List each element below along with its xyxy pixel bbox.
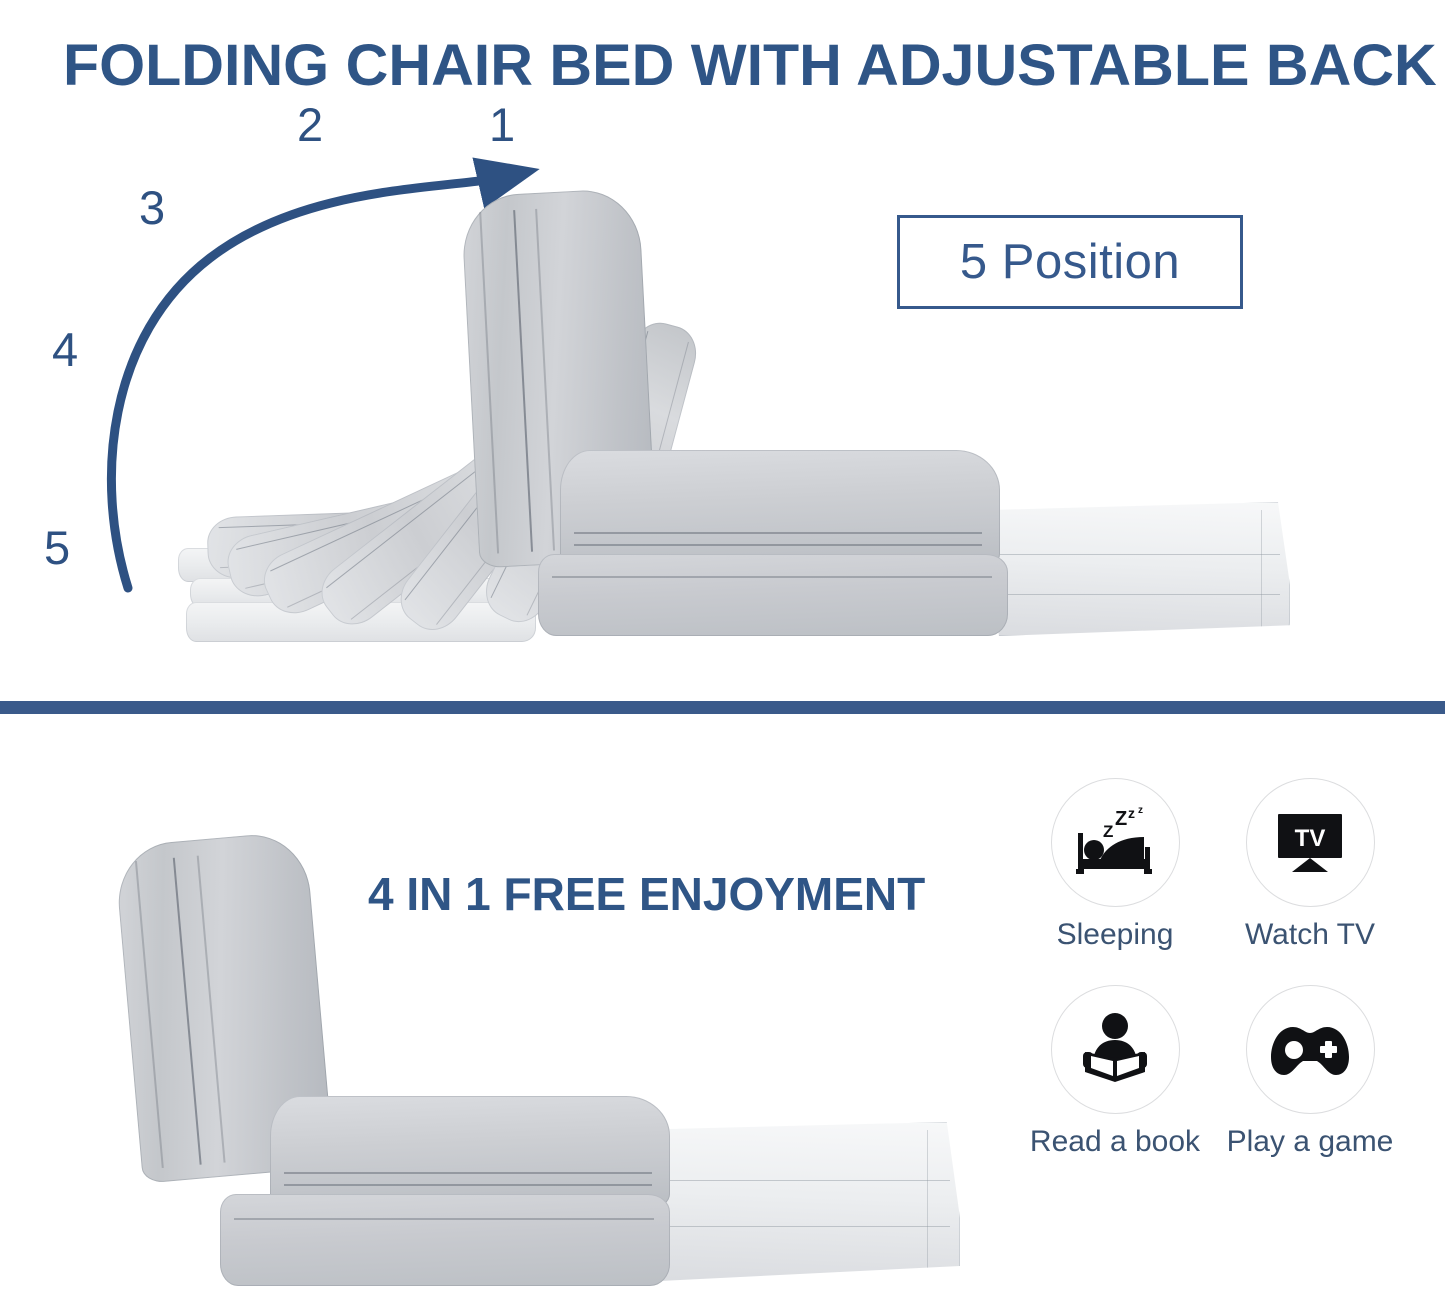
position-number-4: 4 [52, 326, 78, 373]
feature-play-a-game: Play a game [1215, 985, 1405, 1160]
feature-icon-circle: TV [1246, 778, 1375, 907]
feature-icon-circle [1246, 985, 1375, 1114]
sleeping-in-bed-icon: Z z z Z [1072, 807, 1158, 879]
svg-text:TV: TV [1295, 825, 1326, 852]
svg-text:Z: Z [1103, 822, 1113, 841]
feature-read-a-book: Read a book [1020, 985, 1210, 1160]
person-reading-book-icon [1075, 1012, 1155, 1088]
feature-watch-tv: TV Watch TV [1215, 778, 1405, 953]
svg-text:z: z [1138, 807, 1143, 816]
position-number-1: 1 [489, 101, 515, 148]
svg-text:Z: Z [1115, 808, 1127, 830]
feature-label: Sleeping [1020, 917, 1210, 953]
position-number-5: 5 [44, 524, 70, 571]
feature-icons-grid: Z z z Z Sleeping [1012, 778, 1412, 1178]
feature-sleeping: Z z z Z Sleeping [1020, 778, 1210, 953]
position-number-2: 2 [297, 101, 323, 148]
section-divider [0, 701, 1445, 714]
television-icon: TV [1270, 808, 1350, 878]
seat-cushion [560, 450, 1000, 568]
product-infographic: FOLDING CHAIR BED WITH ADJUSTABLE BACK 1… [0, 0, 1445, 1303]
seat-cushion [270, 1096, 670, 1208]
extended-mattress-slab [990, 502, 1290, 636]
product-photo-chair-mode [90, 820, 1070, 1303]
base-deck [220, 1194, 670, 1286]
game-controller-icon [1267, 1019, 1353, 1081]
svg-text:z: z [1128, 807, 1135, 821]
feature-icon-circle [1051, 985, 1180, 1114]
feature-icon-circle: Z z z Z [1051, 778, 1180, 907]
feature-label: Watch TV [1215, 917, 1405, 953]
product-photo-recline-positions [130, 150, 1310, 680]
feature-label: Read a book [1020, 1124, 1210, 1160]
extended-mattress-slab [630, 1122, 960, 1282]
base-deck [538, 554, 1008, 636]
page-title: FOLDING CHAIR BED WITH ADJUSTABLE BACK [63, 35, 1437, 97]
feature-label: Play a game [1215, 1124, 1405, 1160]
